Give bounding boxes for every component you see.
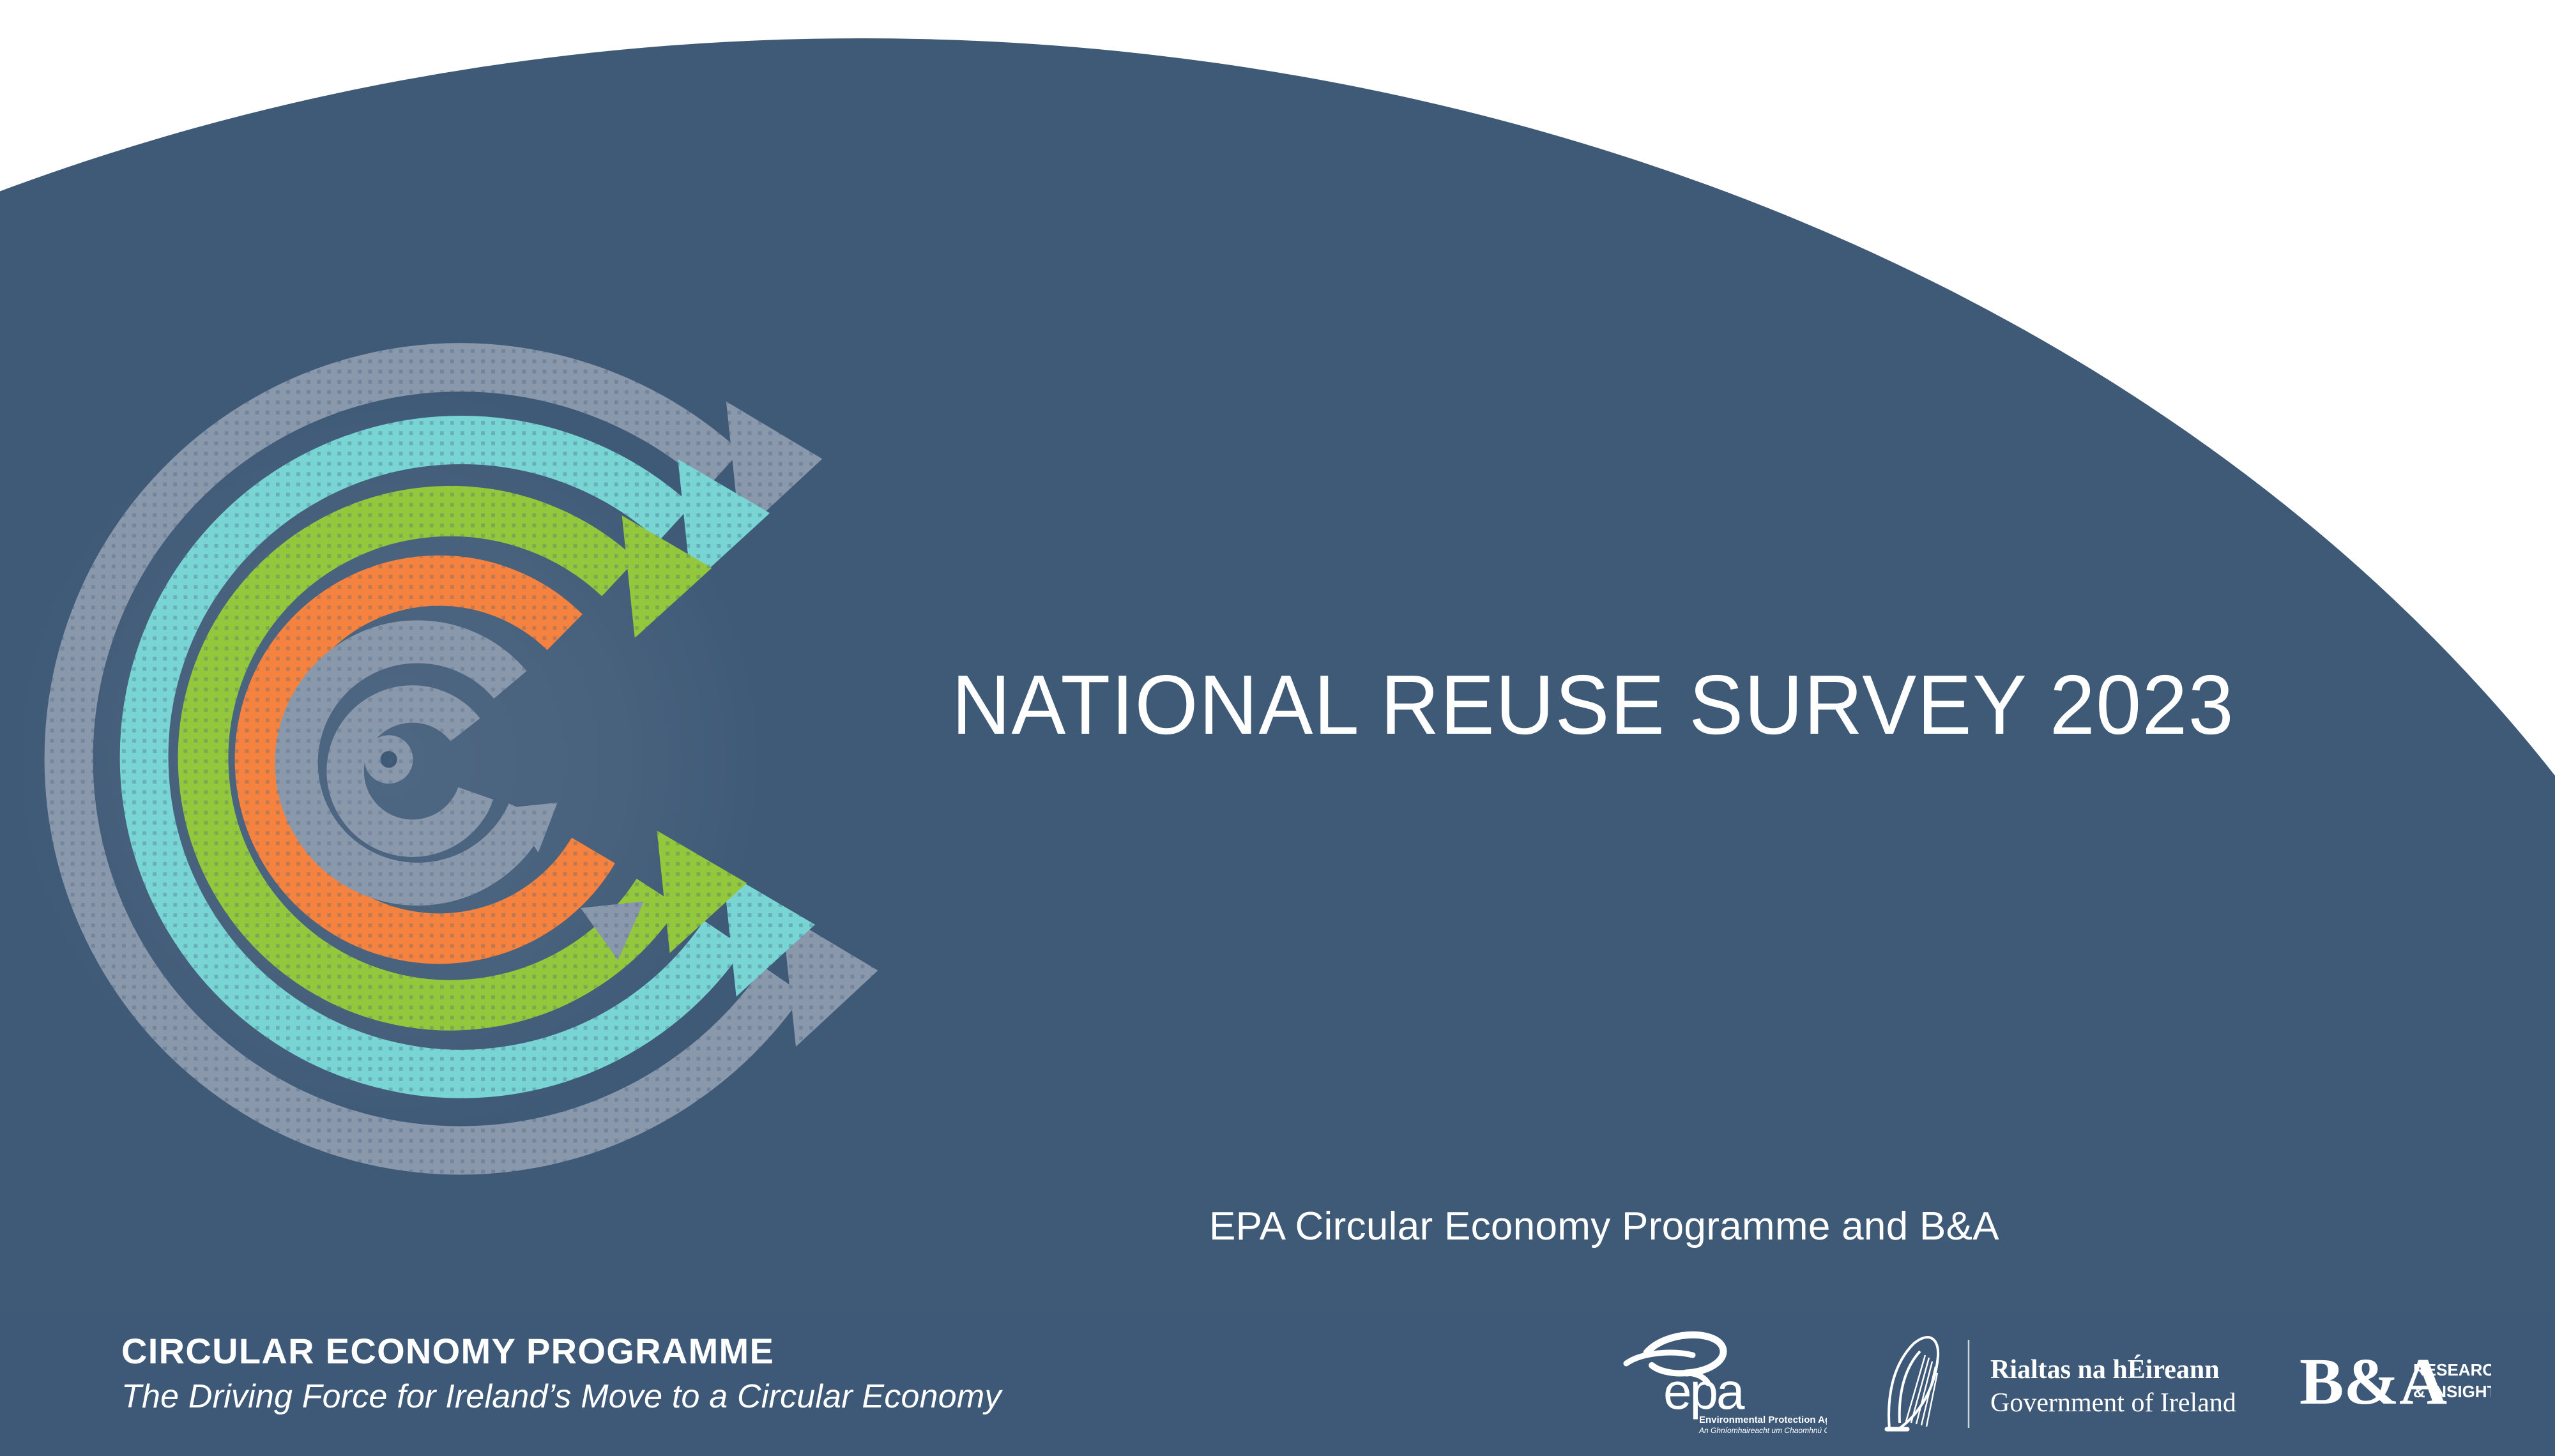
epa-logo: epa Environmental Protection Agency An G… <box>1597 1327 1827 1439</box>
slide-title: NATIONAL REUSE SURVEY 2023 <box>952 661 2185 750</box>
goi-line-english: Government of Ireland <box>1990 1388 2236 1418</box>
footer-text-block: CIRCULAR ECONOMY PROGRAMME The Driving F… <box>121 1331 1002 1416</box>
ba-tagline-line1: RESEARCH <box>2413 1360 2491 1379</box>
ba-logo: B&A RESEARCH & INSIGHT <box>2299 1345 2491 1415</box>
epa-subtitle-en: Environmental Protection Agency <box>1699 1414 1827 1425</box>
ba-tagline-line2: & INSIGHT <box>2413 1382 2491 1401</box>
footer-tagline: The Driving Force for Ireland’s Move to … <box>121 1377 1002 1416</box>
harp-icon <box>1887 1337 1938 1429</box>
goi-line-irish: Rialtas na hÉireann <box>1990 1354 2220 1384</box>
slide-byline: EPA Circular Economy Programme and B&A <box>1209 1204 1999 1249</box>
epa-subtitle-ga: An Ghníomhaireacht um Chaomhnú Comhshaoi… <box>1698 1426 1827 1435</box>
footer-programme-title: CIRCULAR ECONOMY PROGRAMME <box>121 1331 1002 1372</box>
epa-wordmark: epa <box>1663 1363 1745 1420</box>
ba-wordmark: B&A <box>2299 1345 2447 1415</box>
government-of-ireland-logo: Rialtas na hÉireann Government of Irelan… <box>1859 1332 2255 1434</box>
circular-economy-mark <box>6 275 939 1207</box>
presentation-title-slide: NATIONAL REUSE SURVEY 2023 EPA Circular … <box>0 0 2555 1456</box>
footer-logo-row: epa Environmental Protection Agency An G… <box>1584 1327 2491 1439</box>
